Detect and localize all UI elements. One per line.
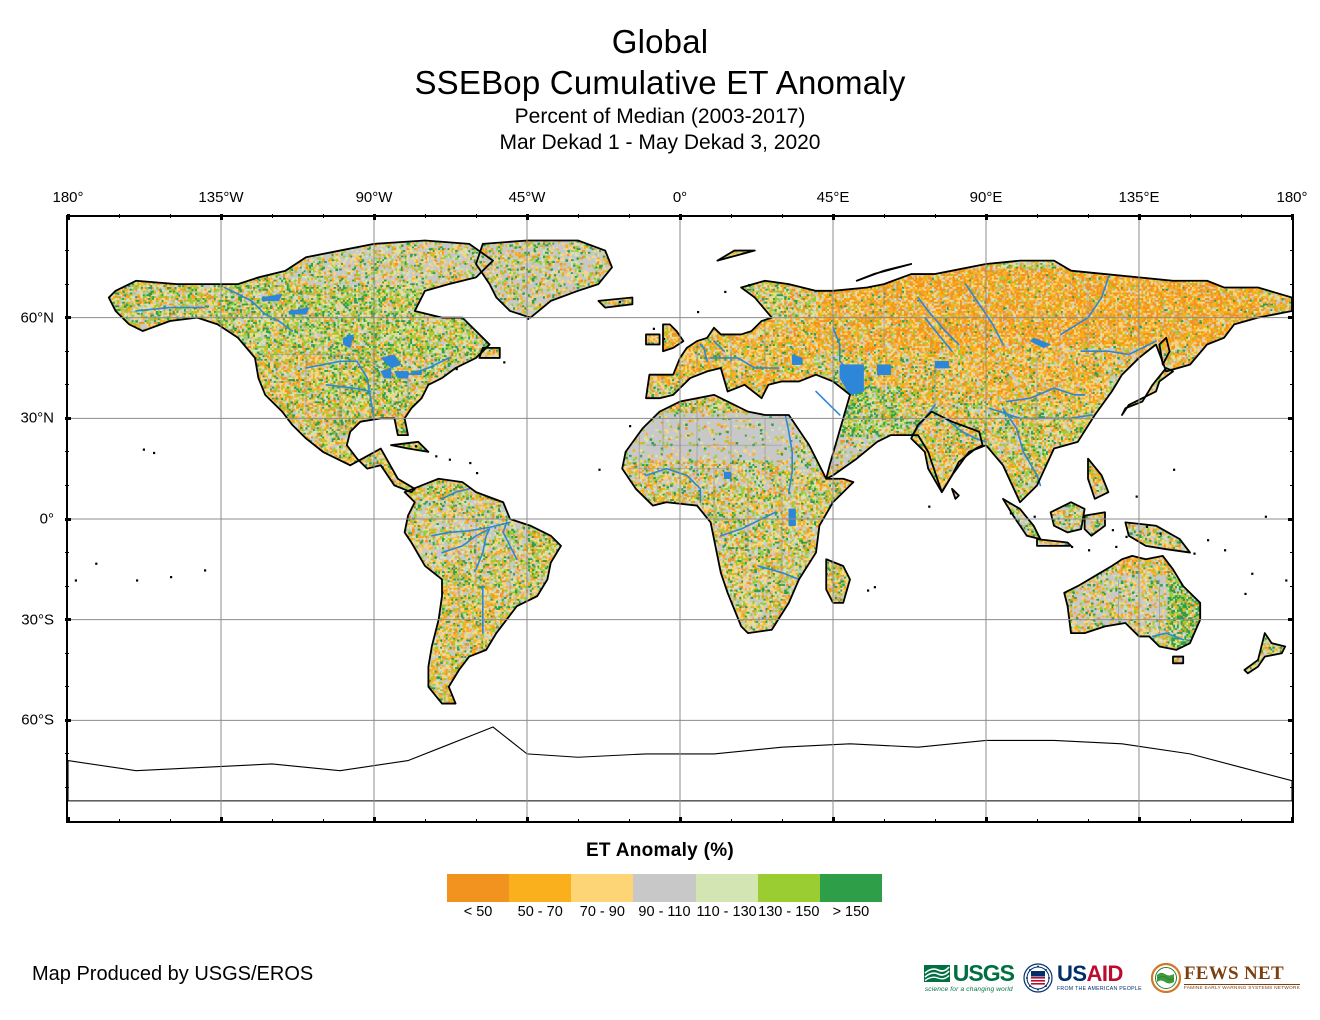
lon-tick-minor — [935, 819, 936, 823]
lat-tick — [65, 316, 71, 319]
lon-tick-minor — [119, 819, 120, 823]
legend-swatch-2 — [571, 874, 633, 902]
lat-label-1: 30°N — [0, 410, 54, 427]
lat-tick-minor — [1290, 250, 1294, 251]
lat-tick-minor — [65, 552, 69, 553]
lat-tick-minor — [65, 787, 69, 788]
lon-tick-minor — [731, 214, 732, 218]
lon-tick-8-0 — [1291, 214, 1294, 220]
lat-tick-minor — [1290, 653, 1294, 654]
lat-tick — [65, 618, 71, 621]
subtitle-date-range: Mar Dekad 1 - May Dekad 3, 2020 — [0, 130, 1320, 156]
lat-tick-minor — [1290, 787, 1294, 788]
lon-tick-minor — [323, 214, 324, 218]
lon-tick-minor — [884, 214, 885, 218]
usgs-logo: USGS science for a changing world — [924, 958, 1014, 998]
legend-swatch-4 — [696, 874, 758, 902]
map-canvas[interactable] — [68, 217, 1292, 821]
legend-label-4: 110 - 130 — [696, 904, 758, 920]
lon-tick-minor — [782, 819, 783, 823]
lon-label-4: 0° — [673, 189, 687, 206]
subtitle-percent-of-median: Percent of Median (2003-2017) — [0, 104, 1320, 130]
lon-tick-minor — [1088, 819, 1089, 823]
lon-tick-5-0 — [832, 214, 835, 220]
page-title-line2: SSEBop Cumulative ET Anomaly — [0, 62, 1320, 104]
lon-tick-minor — [578, 214, 579, 218]
lon-label-8: 180° — [1276, 189, 1307, 206]
legend-label-2: 70 - 90 — [571, 904, 633, 920]
legend-label-1: 50 - 70 — [509, 904, 571, 920]
lon-tick-minor — [170, 819, 171, 823]
lon-tick-minor — [629, 214, 630, 218]
usaid-wordmark-us: US — [1057, 961, 1087, 986]
lat-tick — [1288, 316, 1294, 319]
legend-color-bar — [447, 874, 882, 902]
usgs-wordmark: USGS — [953, 962, 1014, 985]
lat-tick — [1288, 719, 1294, 722]
legend-labels: < 5050 - 7070 - 9090 - 110110 - 130130 -… — [447, 904, 882, 920]
lon-tick-minor — [884, 819, 885, 823]
lon-tick-7-1 — [1138, 817, 1141, 823]
lon-tick-0-0 — [67, 214, 70, 220]
lon-tick-minor — [425, 819, 426, 823]
lon-tick-minor — [782, 214, 783, 218]
logo-row: USGS science for a changing world USAID … — [924, 955, 1300, 1000]
lat-tick — [65, 518, 71, 521]
lon-tick-minor — [1037, 819, 1038, 823]
lon-label-3: 45°W — [509, 189, 546, 206]
map-frame[interactable] — [66, 215, 1294, 823]
lon-label-6: 90°E — [970, 189, 1003, 206]
legend-label-3: 90 - 110 — [633, 904, 695, 920]
lon-label-7: 135°E — [1118, 189, 1159, 206]
lat-tick-minor — [65, 384, 69, 385]
lon-tick-4-0 — [679, 214, 682, 220]
lon-tick-minor — [272, 819, 273, 823]
lon-label-1: 135°W — [198, 189, 243, 206]
lat-tick-minor — [1290, 753, 1294, 754]
lat-label-4: 60°S — [0, 712, 54, 729]
lat-tick — [1288, 618, 1294, 621]
lon-tick-3-1 — [526, 817, 529, 823]
lat-tick-minor — [1290, 351, 1294, 352]
lat-tick — [1288, 417, 1294, 420]
legend-swatch-6 — [820, 874, 882, 902]
legend: ET Anomaly (%) < 5050 - 7070 - 9090 - 11… — [0, 840, 1320, 862]
lat-tick-minor — [65, 586, 69, 587]
lon-tick-minor — [1037, 214, 1038, 218]
lat-tick — [65, 417, 71, 420]
fews-wordmark: FEWS NET — [1184, 964, 1300, 983]
lat-tick-minor — [65, 451, 69, 452]
lat-label-3: 30°S — [0, 611, 54, 628]
fews-net-logo: FEWS NET FAMINE EARLY WARNING SYSTEMS NE… — [1151, 958, 1300, 998]
usaid-seal-icon — [1023, 963, 1053, 993]
lon-label-5: 45°E — [817, 189, 850, 206]
lat-tick-minor — [65, 753, 69, 754]
legend-label-6: > 150 — [820, 904, 882, 920]
lat-tick-minor — [1290, 284, 1294, 285]
fews-globe-icon — [1151, 963, 1181, 993]
lon-tick-7-0 — [1138, 214, 1141, 220]
lat-tick-minor — [65, 653, 69, 654]
lon-tick-5-1 — [832, 817, 835, 823]
legend-swatch-1 — [509, 874, 571, 902]
lon-tick-minor — [272, 214, 273, 218]
lat-tick-minor — [1290, 485, 1294, 486]
lon-tick-6-1 — [985, 817, 988, 823]
fews-tagline: FAMINE EARLY WARNING SYSTEMS NETWORK — [1184, 984, 1300, 991]
lat-tick-minor — [1290, 586, 1294, 587]
lat-tick-minor — [1290, 552, 1294, 553]
lon-tick-4-1 — [679, 817, 682, 823]
lat-tick — [65, 719, 71, 722]
lon-tick-8-1 — [1291, 817, 1294, 823]
lon-tick-minor — [1088, 214, 1089, 218]
title-block: Global SSEBop Cumulative ET Anomaly Perc… — [0, 22, 1320, 156]
legend-swatch-3 — [633, 874, 695, 902]
usaid-tagline: FROM THE AMERICAN PEOPLE — [1057, 986, 1142, 992]
lon-tick-minor — [1190, 214, 1191, 218]
lat-tick-minor — [65, 485, 69, 486]
legend-label-0: < 50 — [447, 904, 509, 920]
footer-credit: Map Produced by USGS/EROS — [32, 963, 313, 986]
lat-tick-minor — [65, 284, 69, 285]
lat-label-0: 60°N — [0, 309, 54, 326]
lat-tick-minor — [1290, 686, 1294, 687]
lon-tick-2-0 — [373, 214, 376, 220]
legend-label-5: 130 - 150 — [758, 904, 820, 920]
legend-swatch-5 — [758, 874, 820, 902]
legend-title: ET Anomaly (%) — [0, 840, 1320, 862]
usaid-logo: USAID FROM THE AMERICAN PEOPLE — [1023, 958, 1142, 998]
lon-tick-1-1 — [220, 817, 223, 823]
lon-label-0: 180° — [52, 189, 83, 206]
lon-tick-minor — [476, 819, 477, 823]
lon-label-2: 90°W — [356, 189, 393, 206]
lat-tick-minor — [1290, 451, 1294, 452]
lat-label-2: 0° — [0, 511, 54, 528]
lon-tick-3-0 — [526, 214, 529, 220]
lon-tick-6-0 — [985, 214, 988, 220]
lat-tick-minor — [65, 686, 69, 687]
usgs-wave-icon — [924, 965, 950, 982]
lon-tick-1-0 — [220, 214, 223, 220]
lon-tick-minor — [476, 214, 477, 218]
lon-tick-minor — [578, 819, 579, 823]
lat-tick — [1288, 518, 1294, 521]
world-anomaly-raster — [68, 217, 1292, 821]
lon-tick-0-1 — [67, 817, 70, 823]
lon-tick-minor — [1190, 819, 1191, 823]
lon-tick-minor — [935, 214, 936, 218]
lon-tick-minor — [1241, 214, 1242, 218]
lat-tick-minor — [65, 250, 69, 251]
lon-tick-minor — [170, 214, 171, 218]
lon-tick-minor — [323, 819, 324, 823]
page-title-line1: Global — [0, 22, 1320, 62]
lat-tick-minor — [1290, 384, 1294, 385]
lon-tick-minor — [1241, 819, 1242, 823]
lon-tick-minor — [119, 214, 120, 218]
lon-tick-minor — [629, 819, 630, 823]
usaid-wordmark-aid: AID — [1087, 961, 1123, 986]
lon-tick-minor — [425, 214, 426, 218]
lat-tick-minor — [65, 351, 69, 352]
legend-swatch-0 — [447, 874, 509, 902]
lon-tick-2-1 — [373, 817, 376, 823]
lon-tick-minor — [731, 819, 732, 823]
usgs-tagline: science for a changing world — [925, 986, 1013, 993]
